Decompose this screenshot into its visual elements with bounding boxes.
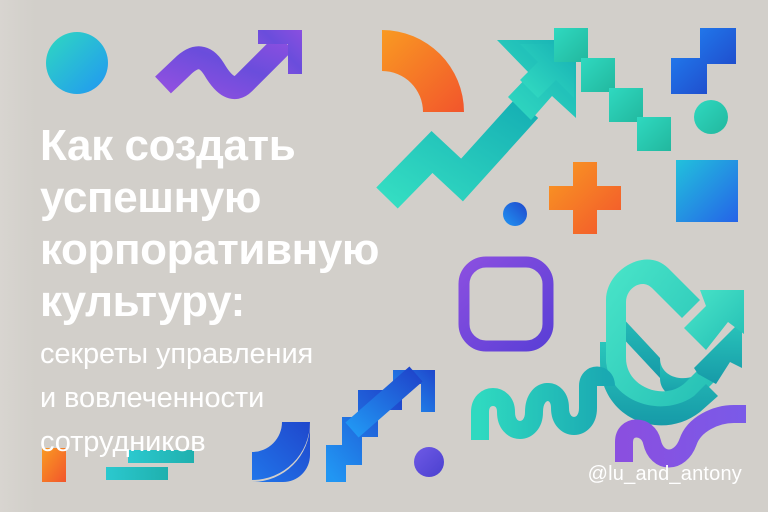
teal-blue-circle <box>46 32 108 94</box>
purple-wave-arrow <box>163 30 302 88</box>
teal-step-square-2 <box>581 58 615 92</box>
title-line-4: культуру: <box>40 276 460 328</box>
social-handle: @lu_and_antony <box>588 463 742 486</box>
purple-squiggle-wave <box>624 414 746 462</box>
teal-step-square-3 <box>609 88 643 122</box>
poster-canvas: Как создать успешную корпоративную культ… <box>0 0 768 512</box>
teal-step-square-1 <box>554 28 588 62</box>
title-line-1: Как создать <box>40 120 460 172</box>
teal-3d-uturn-arrow <box>600 259 744 425</box>
teal-step-square-4 <box>637 117 671 151</box>
title-line-3: корпоративную <box>40 224 460 276</box>
orange-quarter-circle <box>382 30 464 112</box>
title-line-2: успешную <box>40 172 460 224</box>
blue-square-lower <box>671 58 707 94</box>
teal-bar-lower <box>106 467 168 480</box>
subtitle-line-3: сотрудников <box>40 424 460 460</box>
orange-plus-sign <box>549 162 621 234</box>
purple-rounded-square-outline <box>464 262 548 346</box>
blue-dot-small <box>503 202 527 226</box>
subtitle-line-1: секреты управления <box>40 336 460 372</box>
teal-circle-small <box>694 100 728 134</box>
cyan-blue-square <box>676 160 738 222</box>
teal-squiggle-wave <box>480 376 606 441</box>
subtitle-line-2: и вовлеченности <box>40 380 460 416</box>
headline-block: Как создать успешную корпоративную культ… <box>40 120 460 460</box>
